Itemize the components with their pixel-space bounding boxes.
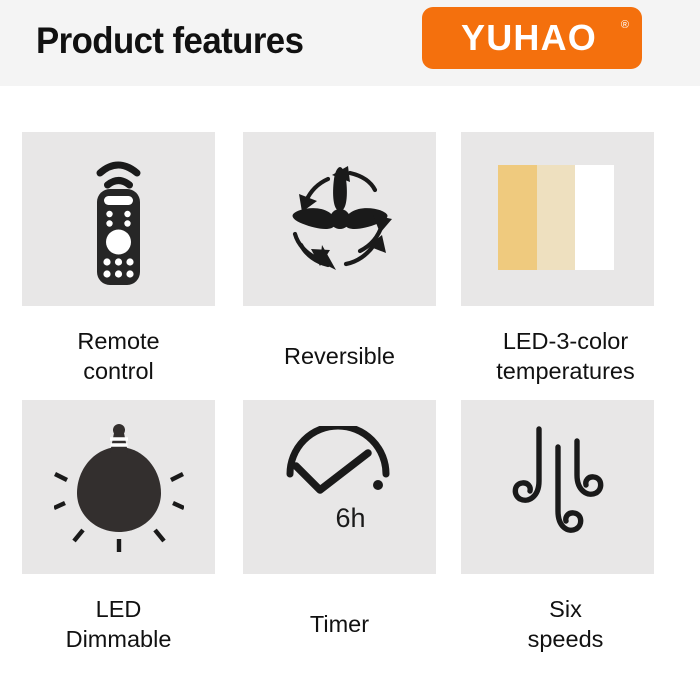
feature-caption: LED Dimmable [22, 594, 215, 654]
feature-icon-tile [22, 400, 215, 574]
feature-item-reversible: Reversible [243, 132, 436, 371]
feature-item-six-speeds: Six speeds [461, 400, 654, 654]
feature-icon-tile [243, 132, 436, 306]
feature-caption: Reversible [243, 341, 436, 371]
brand-logo-text: YUHAO [422, 7, 642, 69]
light-bulb-icon [22, 400, 215, 574]
reversible-fan-icon [243, 132, 436, 306]
timer-value: 6h [243, 503, 436, 534]
feature-caption: Six speeds [469, 594, 662, 654]
feature-grid: Remote control [0, 86, 700, 700]
swatch-neutral [537, 165, 575, 270]
airflow-speeds-icon [461, 400, 654, 574]
feature-item-led-color-temperature: LED-3-color temperatures [461, 132, 654, 386]
timer-value-text: 6h [335, 503, 365, 533]
feature-item-timer: 6h Timer [243, 400, 436, 639]
feature-icon-tile [461, 400, 654, 574]
feature-caption: LED-3-color temperatures [469, 326, 662, 386]
swatch-cool [575, 165, 614, 270]
feature-item-led-dimmable: LED Dimmable [22, 400, 215, 654]
header-band: Product features YUHAO ® [0, 0, 700, 86]
timer-dial-icon [243, 400, 436, 574]
feature-icon-tile: 6h [243, 400, 436, 574]
feature-caption: Remote control [22, 326, 215, 386]
brand-logo-badge: YUHAO ® [422, 7, 642, 69]
led-color-temperature-icon [498, 165, 614, 270]
registered-trademark-icon: ® [621, 20, 629, 31]
remote-control-icon [22, 132, 215, 306]
feature-caption: Timer [243, 609, 436, 639]
feature-icon-tile [22, 132, 215, 306]
swatch-warm [498, 165, 537, 270]
feature-icon-tile [461, 132, 654, 306]
page-title: Product features [36, 14, 303, 68]
feature-item-remote-control: Remote control [22, 132, 215, 386]
